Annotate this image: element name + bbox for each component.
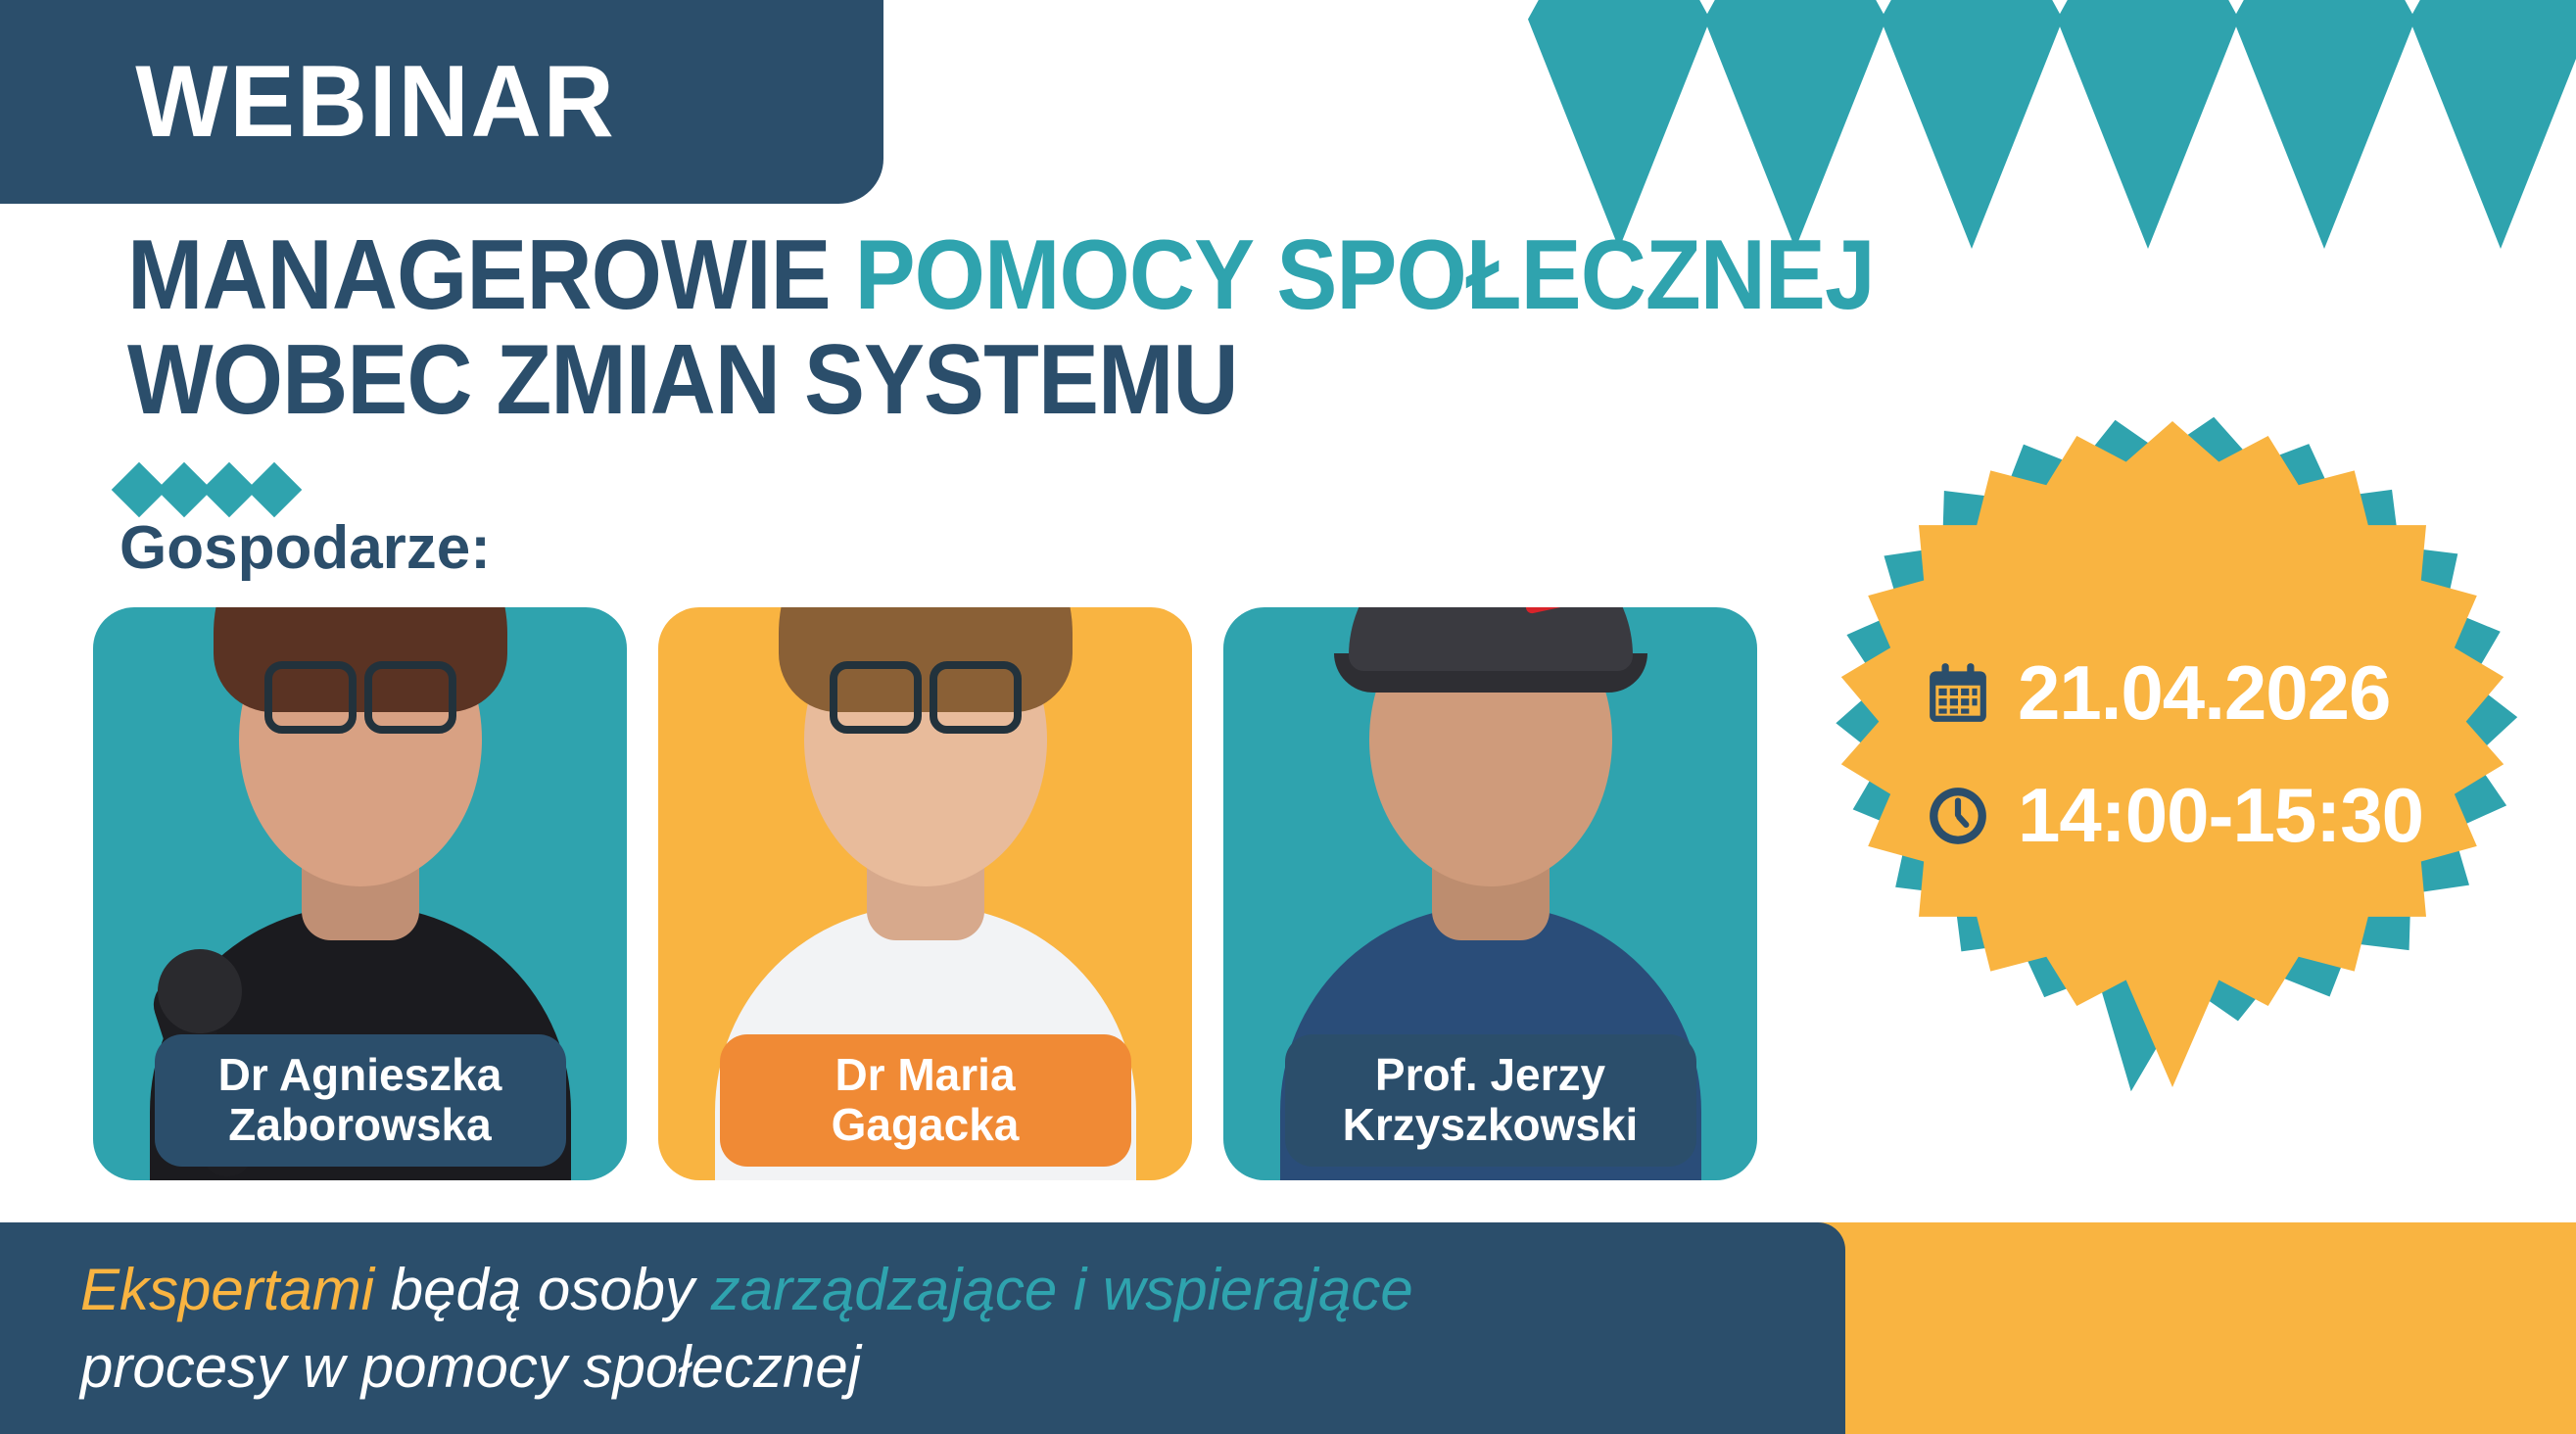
headline-part-navy: MANAGEROWIE — [127, 220, 855, 330]
speaker-name: Dr Maria Gagacka — [720, 1034, 1131, 1167]
event-details-badge: 21.04.2026 14:00-15:30 — [1810, 421, 2535, 1087]
diamond-shape — [1881, 0, 2063, 249]
speaker-card: Dr Maria Gagacka — [658, 607, 1192, 1180]
speaker-name: Prof. Jerzy Krzyszkowski — [1285, 1034, 1696, 1167]
speaker-name: Dr Agnieszka Zaborowska — [155, 1034, 566, 1167]
mini-diamond-decoration — [119, 470, 298, 509]
diamond-shape — [2233, 0, 2415, 249]
webinar-badge: WEBINAR — [0, 0, 883, 204]
event-time-row: 14:00-15:30 — [1926, 771, 2535, 860]
footer-line-2: procesy w pomocy społecznej — [80, 1328, 1845, 1406]
footer-banner: Ekspertami będą osoby zarządzające i wsp… — [0, 1222, 1845, 1434]
portrait-glasses — [830, 661, 1022, 720]
headline-line-2: WOBEC ZMIAN SYSTEMU — [127, 328, 2155, 433]
portrait-cap — [1349, 607, 1633, 671]
footer-part-teal: zarządzające i wspierające — [711, 1257, 1413, 1322]
calendar-icon — [1926, 661, 1990, 726]
footer-line-1: Ekspertami będą osoby zarządzające i wsp… — [80, 1251, 1845, 1328]
clock-icon — [1926, 784, 1990, 848]
diamond-shape — [2409, 0, 2576, 249]
diamond-shape — [2057, 0, 2239, 249]
event-date-row: 21.04.2026 — [1926, 648, 2535, 738]
footer-part-white: będą osoby — [391, 1257, 711, 1322]
speaker-card: Prof. Jerzy Krzyszkowski — [1223, 607, 1757, 1180]
diamond-shape — [1528, 0, 1710, 249]
diamond-shape — [1704, 0, 1886, 249]
diamond-icon — [247, 462, 303, 518]
event-details-content: 21.04.2026 14:00-15:30 — [1810, 421, 2535, 1087]
event-date: 21.04.2026 — [2018, 648, 2390, 738]
event-time: 14:00-15:30 — [2018, 771, 2423, 860]
speaker-card: Dr Agnieszka Zaborowska — [93, 607, 627, 1180]
page-title: MANAGEROWIE POMOCY SPOŁECZNEJ WOBEC ZMIA… — [127, 223, 2331, 433]
speaker-list: Dr Agnieszka Zaborowska Dr Maria Gagacka… — [93, 607, 1757, 1180]
diamond-pattern-decoration — [1528, 0, 2576, 245]
webinar-badge-label: WEBINAR — [135, 44, 615, 161]
hosts-label: Gospodarze: — [119, 513, 491, 583]
footer-part-orange: Ekspertami — [80, 1257, 391, 1322]
headline-line-1: MANAGEROWIE POMOCY SPOŁECZNEJ — [127, 223, 2155, 328]
portrait-glasses — [264, 661, 456, 720]
headline-part-teal: POMOCY SPOŁECZNEJ — [855, 220, 1875, 330]
